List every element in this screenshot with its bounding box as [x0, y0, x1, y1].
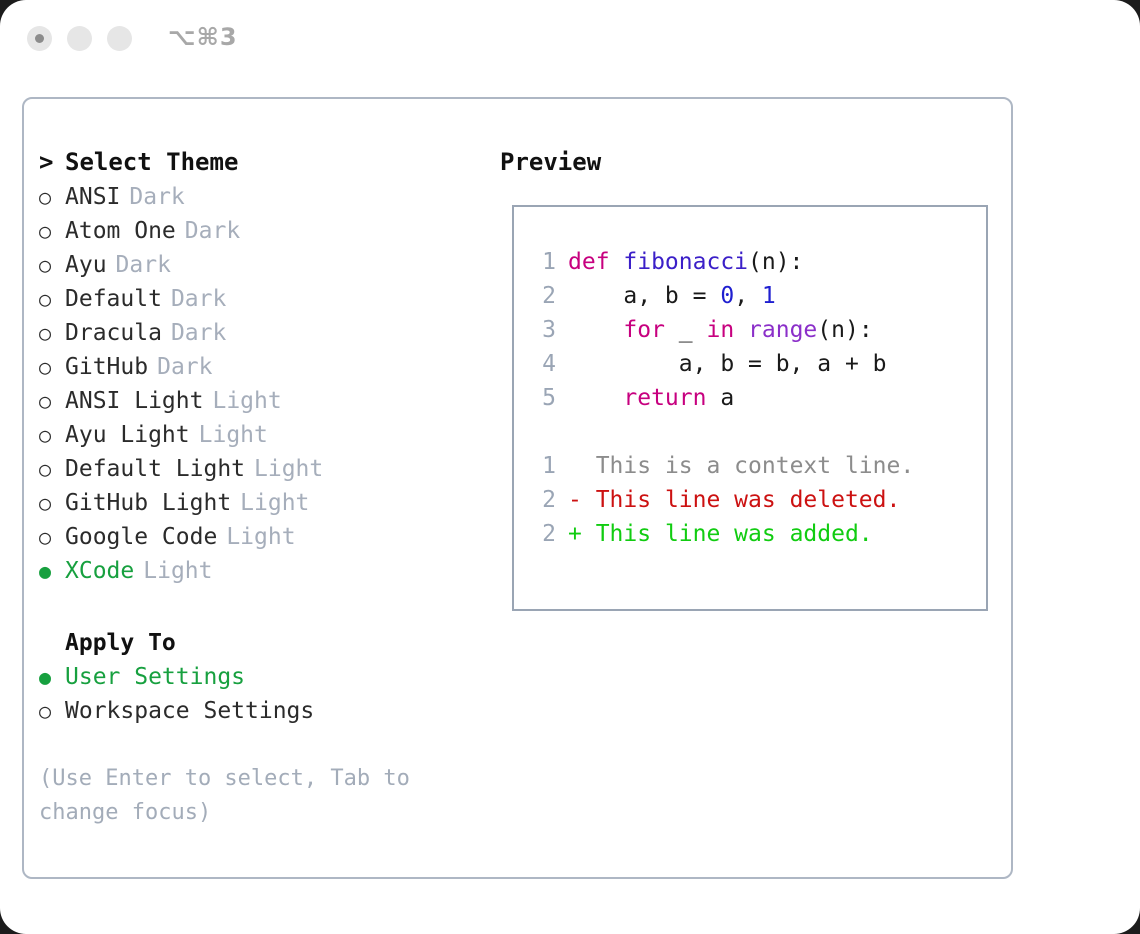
code-token-txt [734, 317, 748, 343]
radio-unselected-icon: ○ [39, 316, 65, 350]
code-token-kw: def [568, 249, 623, 275]
window-dot-2[interactable] [67, 26, 92, 51]
preview-column: Preview 1def fibonacci(n):2 a, b = 0, 13… [500, 144, 990, 180]
theme-item-google-code[interactable]: ○Google CodeLight [39, 520, 479, 554]
theme-item-variant: Light [254, 456, 323, 482]
radio-unselected-icon: ○ [39, 282, 65, 316]
theme-list: ○ANSIDark○Atom OneDark○AyuDark○DefaultDa… [39, 180, 479, 588]
code-token-txt [568, 385, 623, 411]
radio-unselected-icon: ○ [39, 520, 65, 554]
diff-text: This line was added. [582, 521, 873, 547]
theme-item-variant: Dark [116, 252, 171, 278]
theme-item-xcode[interactable]: ●XCodeLight [39, 554, 479, 588]
theme-item-default[interactable]: ○DefaultDark [39, 282, 479, 316]
theme-item-variant: Dark [129, 184, 184, 210]
window-dot-active-inner [35, 34, 44, 43]
diff-marker [568, 453, 582, 479]
theme-item-variant: Light [226, 524, 295, 550]
code-line: 3 for _ in range(n): [522, 313, 980, 347]
radio-unselected-icon: ○ [39, 418, 65, 452]
theme-item-label: Dracula [65, 320, 162, 346]
diff-line: 2+ This line was added. [522, 517, 980, 551]
apply-to-title: Apply To [39, 626, 479, 660]
radio-unselected-icon: ○ [39, 180, 65, 214]
diff-marker: - [568, 487, 582, 513]
code-token-txt [568, 317, 623, 343]
preview-code: 1def fibonacci(n):2 a, b = 0, 13 for _ i… [522, 245, 980, 551]
code-token-txt: (n): [817, 317, 872, 343]
window-dot-3[interactable] [107, 26, 132, 51]
diff-line: 1 This is a context line. [522, 449, 980, 483]
code-line: 4 a, b = b, a + b [522, 347, 980, 381]
theme-item-label: Atom One [65, 218, 176, 244]
theme-item-label: Ayu [65, 252, 107, 278]
apply-to-option-workspace-settings[interactable]: ○Workspace Settings [39, 694, 479, 728]
title-bar: ⌥⌘3 [0, 0, 1140, 80]
theme-item-variant: Light [212, 388, 281, 414]
theme-item-label: XCode [65, 558, 134, 584]
line-number: 5 [522, 381, 556, 415]
theme-item-ayu-light[interactable]: ○Ayu LightLight [39, 418, 479, 452]
code-token-fn: fibonacci [623, 249, 748, 275]
theme-item-variant: Light [240, 490, 309, 516]
app-window: ⌥⌘3 >Select Theme ○ANSIDark○Atom OneDark… [0, 0, 1140, 934]
theme-item-github[interactable]: ○GitHubDark [39, 350, 479, 384]
theme-item-dracula[interactable]: ○DraculaDark [39, 316, 479, 350]
keyboard-hint-text: (Use Enter to select, Tab to change focu… [39, 762, 439, 830]
radio-unselected-icon: ○ [39, 384, 65, 418]
section-spacer [39, 588, 479, 626]
code-line: 2 a, b = 0, 1 [522, 279, 980, 313]
theme-item-variant: Dark [157, 354, 212, 380]
line-number: 3 [522, 313, 556, 347]
code-token-num: 0 [720, 283, 734, 309]
code-blank-line [522, 415, 980, 449]
theme-item-label: Ayu Light [65, 422, 190, 448]
code-token-txt: a [706, 385, 734, 411]
line-number: 1 [522, 245, 556, 279]
theme-item-ayu[interactable]: ○AyuDark [39, 248, 479, 282]
keyboard-shortcut-label: ⌥⌘3 [168, 23, 238, 51]
theme-item-github-light[interactable]: ○GitHub LightLight [39, 486, 479, 520]
code-token-kw: for [623, 317, 665, 343]
radio-selected-icon: ● [39, 660, 65, 694]
diff-text: This is a context line. [582, 453, 914, 479]
radio-unselected-icon: ○ [39, 248, 65, 282]
apply-to-list: ●User Settings○Workspace Settings [39, 660, 479, 728]
theme-item-label: Default Light [65, 456, 245, 482]
theme-item-label: GitHub Light [65, 490, 231, 516]
radio-unselected-icon: ○ [39, 350, 65, 384]
theme-item-label: ANSI Light [65, 388, 203, 414]
theme-item-label: Default [65, 286, 162, 312]
window-dot-active[interactable] [27, 26, 52, 51]
theme-item-variant: Dark [185, 218, 240, 244]
theme-item-label: GitHub [65, 354, 148, 380]
theme-item-label: Google Code [65, 524, 217, 550]
line-number: 4 [522, 347, 556, 381]
theme-item-default-light[interactable]: ○Default LightLight [39, 452, 479, 486]
code-token-txt: a, b = [568, 283, 720, 309]
radio-unselected-icon: ○ [39, 452, 65, 486]
radio-unselected-icon: ○ [39, 214, 65, 248]
prompt-caret-icon: > [39, 144, 65, 180]
code-line: 5 return a [522, 381, 980, 415]
code-token-num: 1 [762, 283, 776, 309]
line-number: 2 [522, 279, 556, 313]
code-token-txt: , [734, 283, 762, 309]
code-line: 1def fibonacci(n): [522, 245, 980, 279]
code-token-txt: (n): [748, 249, 803, 275]
theme-item-label: ANSI [65, 184, 120, 210]
diff-marker: + [568, 521, 582, 547]
line-number: 2 [522, 483, 556, 517]
code-token-call: range [748, 317, 817, 343]
theme-item-variant: Dark [171, 286, 226, 312]
diff-line: 2- This line was deleted. [522, 483, 980, 517]
theme-selector-panel: >Select Theme ○ANSIDark○Atom OneDark○Ayu… [22, 97, 1013, 879]
theme-item-ansi-light[interactable]: ○ANSI LightLight [39, 384, 479, 418]
theme-list-column: >Select Theme ○ANSIDark○Atom OneDark○Ayu… [39, 144, 479, 728]
radio-selected-icon: ● [39, 554, 65, 588]
theme-item-variant: Dark [171, 320, 226, 346]
theme-item-atom-one[interactable]: ○Atom OneDark [39, 214, 479, 248]
preview-box: 1def fibonacci(n):2 a, b = 0, 13 for _ i… [512, 205, 988, 611]
diff-text: This line was deleted. [582, 487, 901, 513]
theme-item-ansi[interactable]: ○ANSIDark [39, 180, 479, 214]
theme-item-variant: Light [199, 422, 268, 448]
code-token-kw: in [706, 317, 734, 343]
select-theme-title: Select Theme [65, 148, 238, 176]
code-token-txt: _ [665, 317, 707, 343]
line-number: 2 [522, 517, 556, 551]
theme-item-variant: Light [143, 558, 212, 584]
apply-to-option-label: Workspace Settings [65, 698, 314, 724]
apply-to-option-user-settings[interactable]: ●User Settings [39, 660, 479, 694]
select-theme-header: >Select Theme [39, 144, 479, 180]
line-number: 1 [522, 449, 556, 483]
code-token-kw: return [623, 385, 706, 411]
radio-unselected-icon: ○ [39, 694, 65, 728]
preview-title: Preview [500, 144, 990, 180]
code-token-txt: a, b = b, a + b [568, 351, 887, 377]
radio-unselected-icon: ○ [39, 486, 65, 520]
apply-to-option-label: User Settings [65, 664, 245, 690]
